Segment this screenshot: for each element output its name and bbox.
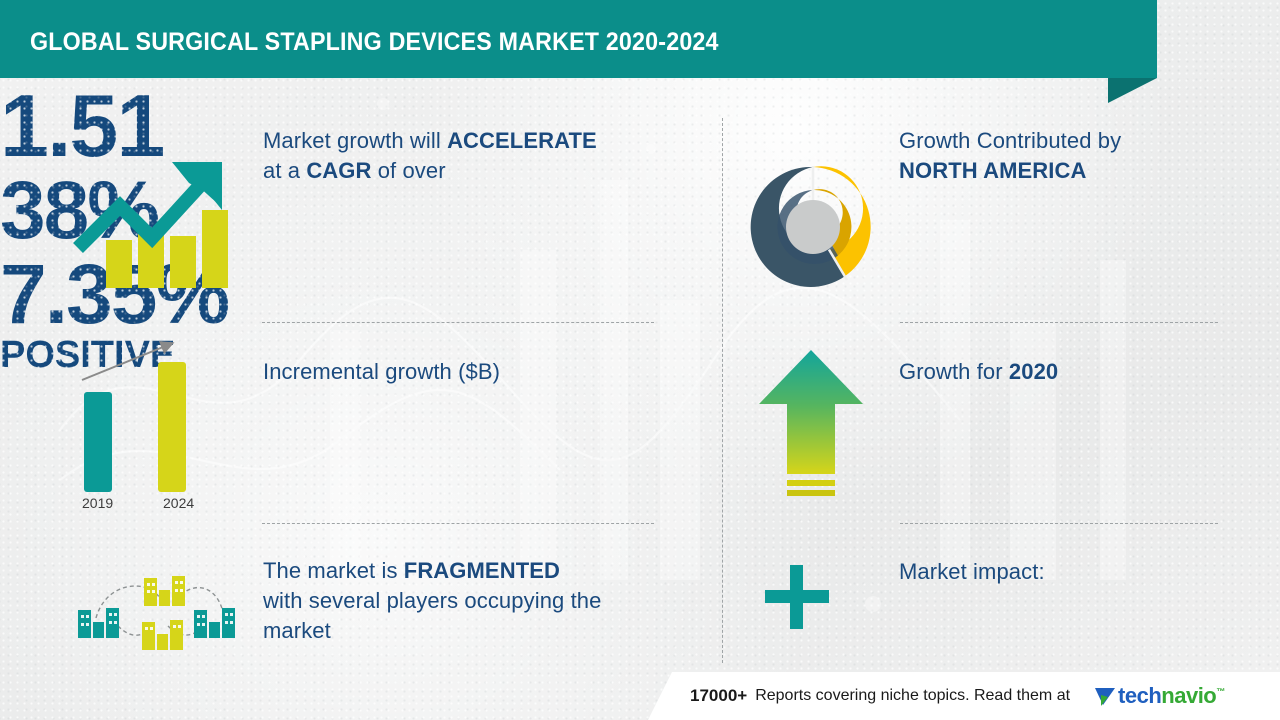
vertical-divider	[722, 118, 723, 663]
divider-left-1	[262, 322, 654, 323]
fragmentation-line1-pre: The market is	[263, 558, 404, 583]
cagr-line1-pre: Market growth will	[263, 128, 447, 153]
growth-year-label-strong: 2020	[1009, 359, 1058, 384]
fragmentation-line1-strong: FRAGMENTED	[404, 558, 560, 583]
technavio-logo[interactable]: technavio™	[1092, 683, 1225, 709]
region-label-strong: NORTH AMERICA	[899, 158, 1086, 183]
cagr-line1-strong: ACCELERATE	[447, 128, 597, 153]
growth-arrow-bars-icon	[72, 148, 232, 303]
cagr-headline: Market growth will ACCELERATE at a CAGR …	[263, 126, 673, 186]
cagr-text-block: Market growth will ACCELERATE at a CAGR …	[263, 126, 673, 186]
city-network-icon	[72, 556, 242, 661]
fragmentation-text-block: The market is FRAGMENTED with several pl…	[263, 556, 683, 646]
technavio-mark-icon	[1092, 683, 1118, 709]
fragmentation-line2: with several players occupying the	[263, 588, 601, 613]
donut-chart-icon	[748, 162, 878, 297]
plus-icon	[762, 562, 832, 637]
infographic-page: GLOBAL SURGICAL STAPLING DEVICES MARKET …	[0, 0, 1280, 720]
header-banner: GLOBAL SURGICAL STAPLING DEVICES MARKET …	[0, 0, 1157, 78]
technavio-wordmark-second: navio	[1161, 683, 1216, 708]
incremental-growth-label: Incremental growth ($B)	[263, 357, 500, 387]
divider-left-2	[262, 523, 654, 524]
technavio-wordmark-first: tech	[1118, 683, 1161, 708]
growth-year-label-pre: Growth for	[899, 359, 1009, 384]
growth-year-text-block: Growth for 2020	[899, 357, 1219, 387]
technavio-wordmark: technavio™	[1118, 683, 1225, 709]
trademark-symbol: ™	[1216, 687, 1225, 697]
footer-bar: 17000+ Reports covering niche topics. Re…	[672, 672, 1280, 720]
cagr-line2-pre: at a	[263, 158, 306, 183]
footer-tagline: Reports covering niche topics. Read them…	[755, 687, 1070, 705]
impact-label: Market impact:	[899, 557, 1045, 587]
fragmentation-line3: market	[263, 618, 331, 643]
divider-right-2	[900, 523, 1218, 524]
two-bars-growth-icon	[72, 336, 222, 501]
header-fold-corner	[1108, 78, 1157, 103]
bar-label-2024: 2024	[163, 495, 194, 511]
page-title: GLOBAL SURGICAL STAPLING DEVICES MARKET …	[30, 28, 719, 57]
up-arrow-icon	[755, 348, 867, 511]
divider-right-1	[900, 322, 1218, 323]
bar-label-2019: 2019	[82, 495, 113, 511]
region-label-pre: Growth Contributed by	[899, 128, 1121, 153]
footer-report-count: 17000+	[690, 686, 747, 706]
footer-notch	[648, 672, 672, 720]
region-text-block: Growth Contributed by NORTH AMERICA	[899, 126, 1219, 186]
cagr-line2-post: of over	[372, 158, 446, 183]
cagr-line2-strong: CAGR	[306, 158, 371, 183]
